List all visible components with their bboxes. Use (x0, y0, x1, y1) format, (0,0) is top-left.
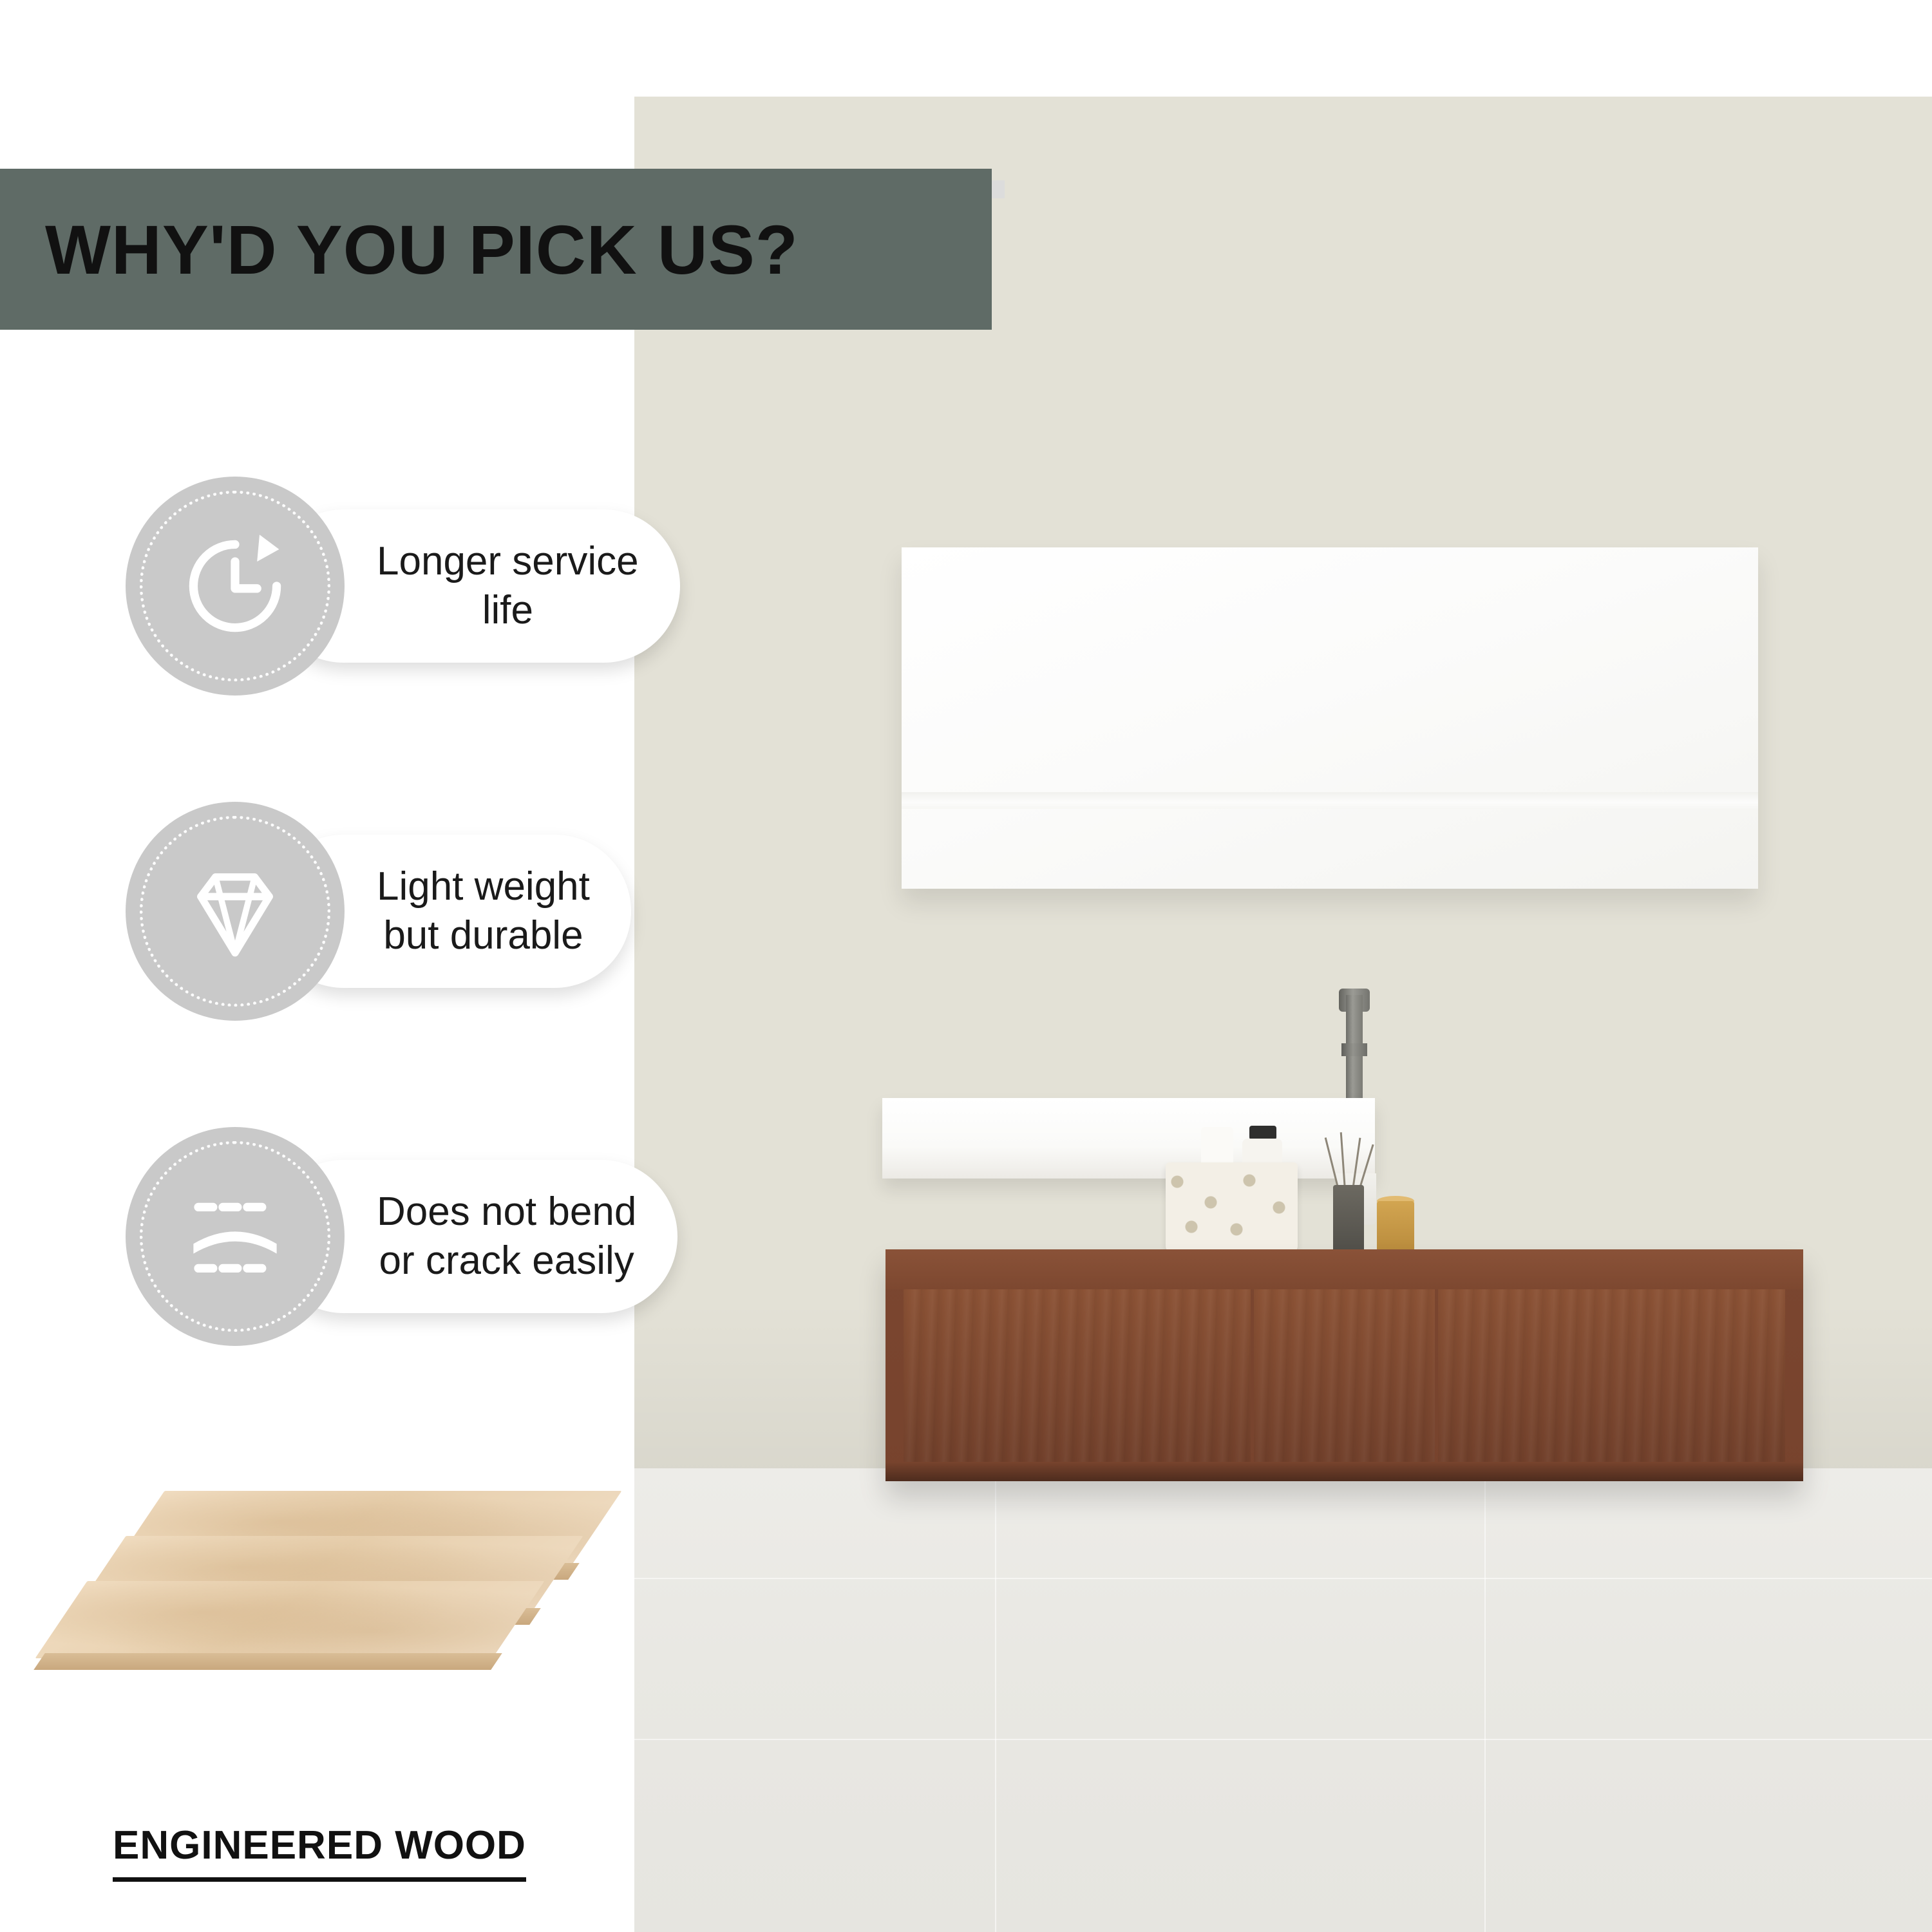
vanity-doors (904, 1289, 1785, 1462)
tiled-floor (634, 1468, 1932, 1932)
washbasin (882, 1098, 1375, 1179)
vanity-door-left (904, 1289, 1251, 1462)
plywood-edge (33, 1653, 502, 1670)
vanity-door-middle (1254, 1289, 1434, 1462)
floor-grout-line (634, 1739, 1932, 1740)
plywood-grain (35, 1581, 545, 1658)
feature-label-2: Light weight but durable (377, 862, 590, 960)
diffuser-sticks (1334, 1132, 1365, 1190)
bottle-cap (1249, 1126, 1276, 1140)
bathroom-vanity-photo (634, 97, 1932, 1932)
storage-basket (1166, 1162, 1298, 1253)
reed-stick (1352, 1138, 1361, 1191)
clock-rotate-icon (126, 477, 345, 696)
diamond-icon (126, 802, 345, 1021)
bend-resistance-icon (126, 1127, 345, 1346)
plywood-sheet-bottom (61, 1581, 518, 1696)
title-banner: WHY'D YOU PICK US? (0, 169, 992, 330)
floor-grout-line (1484, 1468, 1486, 1932)
page-title: WHY'D YOU PICK US? (0, 209, 799, 290)
bottle-tall (1201, 1127, 1233, 1167)
basket-pattern (1166, 1162, 1298, 1253)
product-caption: ENGINEERED WOOD (113, 1823, 526, 1882)
poster-root: WHY'D YOU PICK US? Longer service life L… (0, 0, 1932, 1932)
walnut-vanity-cabinet (885, 1249, 1803, 1481)
mirror-reflection-band (902, 792, 1758, 809)
wall-mirror (902, 547, 1758, 889)
feature-label-3: Does not bend or crack easily (377, 1188, 636, 1285)
vanity-door-right (1438, 1289, 1785, 1462)
candle (1377, 1201, 1414, 1253)
feature-item-2: Light weight but durable (126, 802, 631, 1021)
plywood-stack (61, 1491, 583, 1761)
plywood-face (35, 1581, 545, 1658)
feature-label-1: Longer service life (377, 537, 639, 634)
floor-grout-line (634, 1578, 1932, 1579)
reed-stick (1340, 1132, 1346, 1190)
vanity-base-shadow (885, 1462, 1803, 1481)
vanity-countertop (885, 1249, 1803, 1289)
faucet-collar (1341, 1043, 1367, 1056)
floor-grout-line (995, 1468, 996, 1932)
reed-diffuser (1333, 1185, 1364, 1253)
feature-item-3: Does not bend or crack easily (126, 1127, 677, 1346)
feature-item-1: Longer service life (126, 477, 680, 696)
